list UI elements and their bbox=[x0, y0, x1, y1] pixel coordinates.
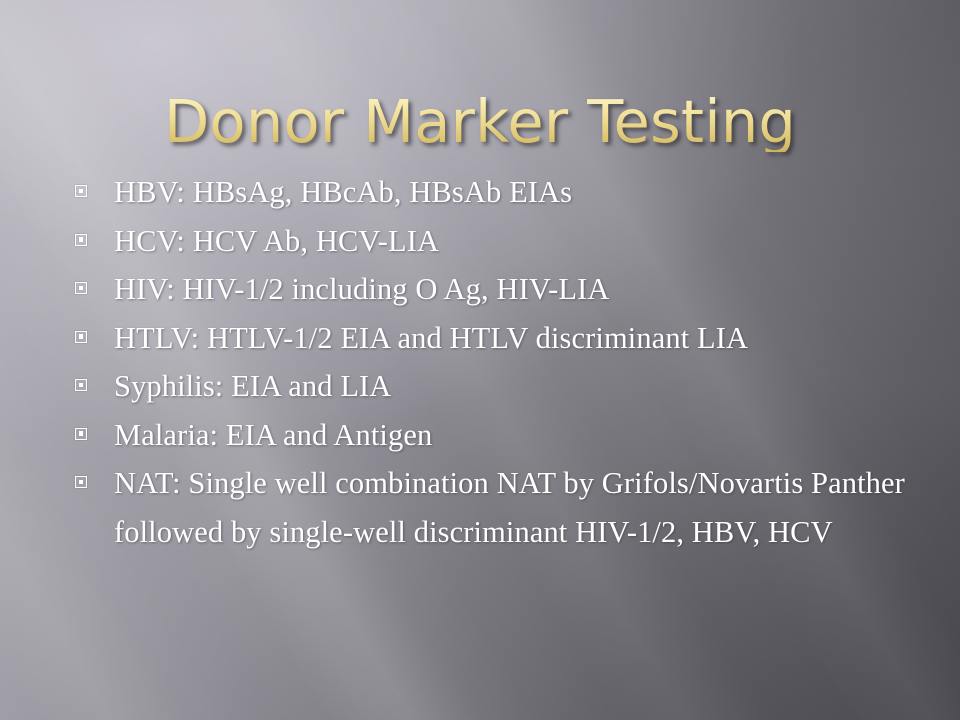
bullet-list: HBV: HBsAg, HBcAb, HBsAb EIAs HCV: HCV A… bbox=[68, 168, 930, 556]
list-item-label: Syphilis: EIA and LIA bbox=[114, 362, 930, 411]
square-bullet-icon bbox=[75, 282, 87, 294]
square-bullet-icon bbox=[75, 331, 87, 343]
list-item: NAT: Single well combination NAT by Grif… bbox=[68, 459, 930, 556]
list-item: HBV: HBsAg, HBcAb, HBsAb EIAs bbox=[68, 168, 930, 217]
list-item: Malaria: EIA and Antigen bbox=[68, 411, 930, 460]
list-item-label: HBV: HBsAg, HBcAb, HBsAb EIAs bbox=[114, 168, 930, 217]
presentation-slide: Donor Marker Testing HBV: HBsAg, HBcAb, … bbox=[0, 0, 960, 720]
page-title: Donor Marker Testing bbox=[164, 92, 796, 152]
list-item: HCV: HCV Ab, HCV-LIA bbox=[68, 217, 930, 266]
square-bullet-icon bbox=[75, 428, 87, 440]
list-item-label: Malaria: EIA and Antigen bbox=[114, 411, 930, 460]
list-item-label: HIV: HIV-1/2 including O Ag, HIV-LIA bbox=[114, 265, 930, 314]
list-item: HTLV: HTLV-1/2 EIA and HTLV discriminant… bbox=[68, 314, 930, 363]
square-bullet-icon bbox=[75, 234, 87, 246]
list-item-label: HCV: HCV Ab, HCV-LIA bbox=[114, 217, 930, 266]
list-item: HIV: HIV-1/2 including O Ag, HIV-LIA bbox=[68, 265, 930, 314]
square-bullet-icon bbox=[75, 185, 87, 197]
slide-content: Donor Marker Testing HBV: HBsAg, HBcAb, … bbox=[0, 0, 960, 720]
list-item: Syphilis: EIA and LIA bbox=[68, 362, 930, 411]
list-item-label: NAT: Single well combination NAT by Grif… bbox=[114, 459, 930, 556]
list-item-label: HTLV: HTLV-1/2 EIA and HTLV discriminant… bbox=[114, 314, 930, 363]
square-bullet-icon bbox=[75, 476, 87, 488]
square-bullet-icon bbox=[75, 379, 87, 391]
